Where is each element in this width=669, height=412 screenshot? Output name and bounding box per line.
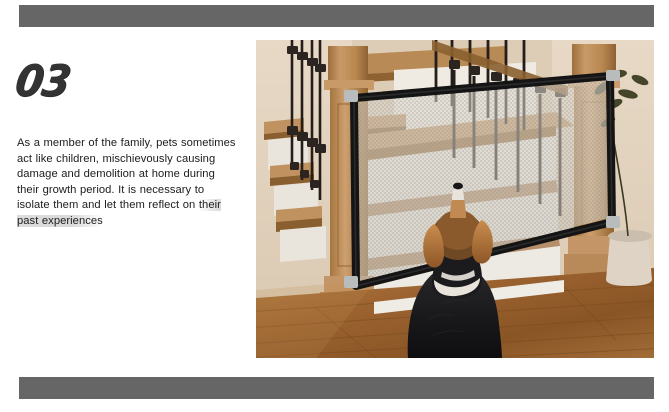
section-number: 03: [12, 60, 73, 103]
bottom-divider-bar: [19, 377, 654, 399]
pet-gate-staircase-illustration: [256, 40, 654, 358]
body-paragraph: As a member of the family, pets sometime…: [17, 136, 239, 230]
product-photo: [256, 40, 654, 358]
text-column: 03 As a member of the family, pets somet…: [17, 60, 239, 230]
top-divider-bar: [19, 5, 654, 27]
